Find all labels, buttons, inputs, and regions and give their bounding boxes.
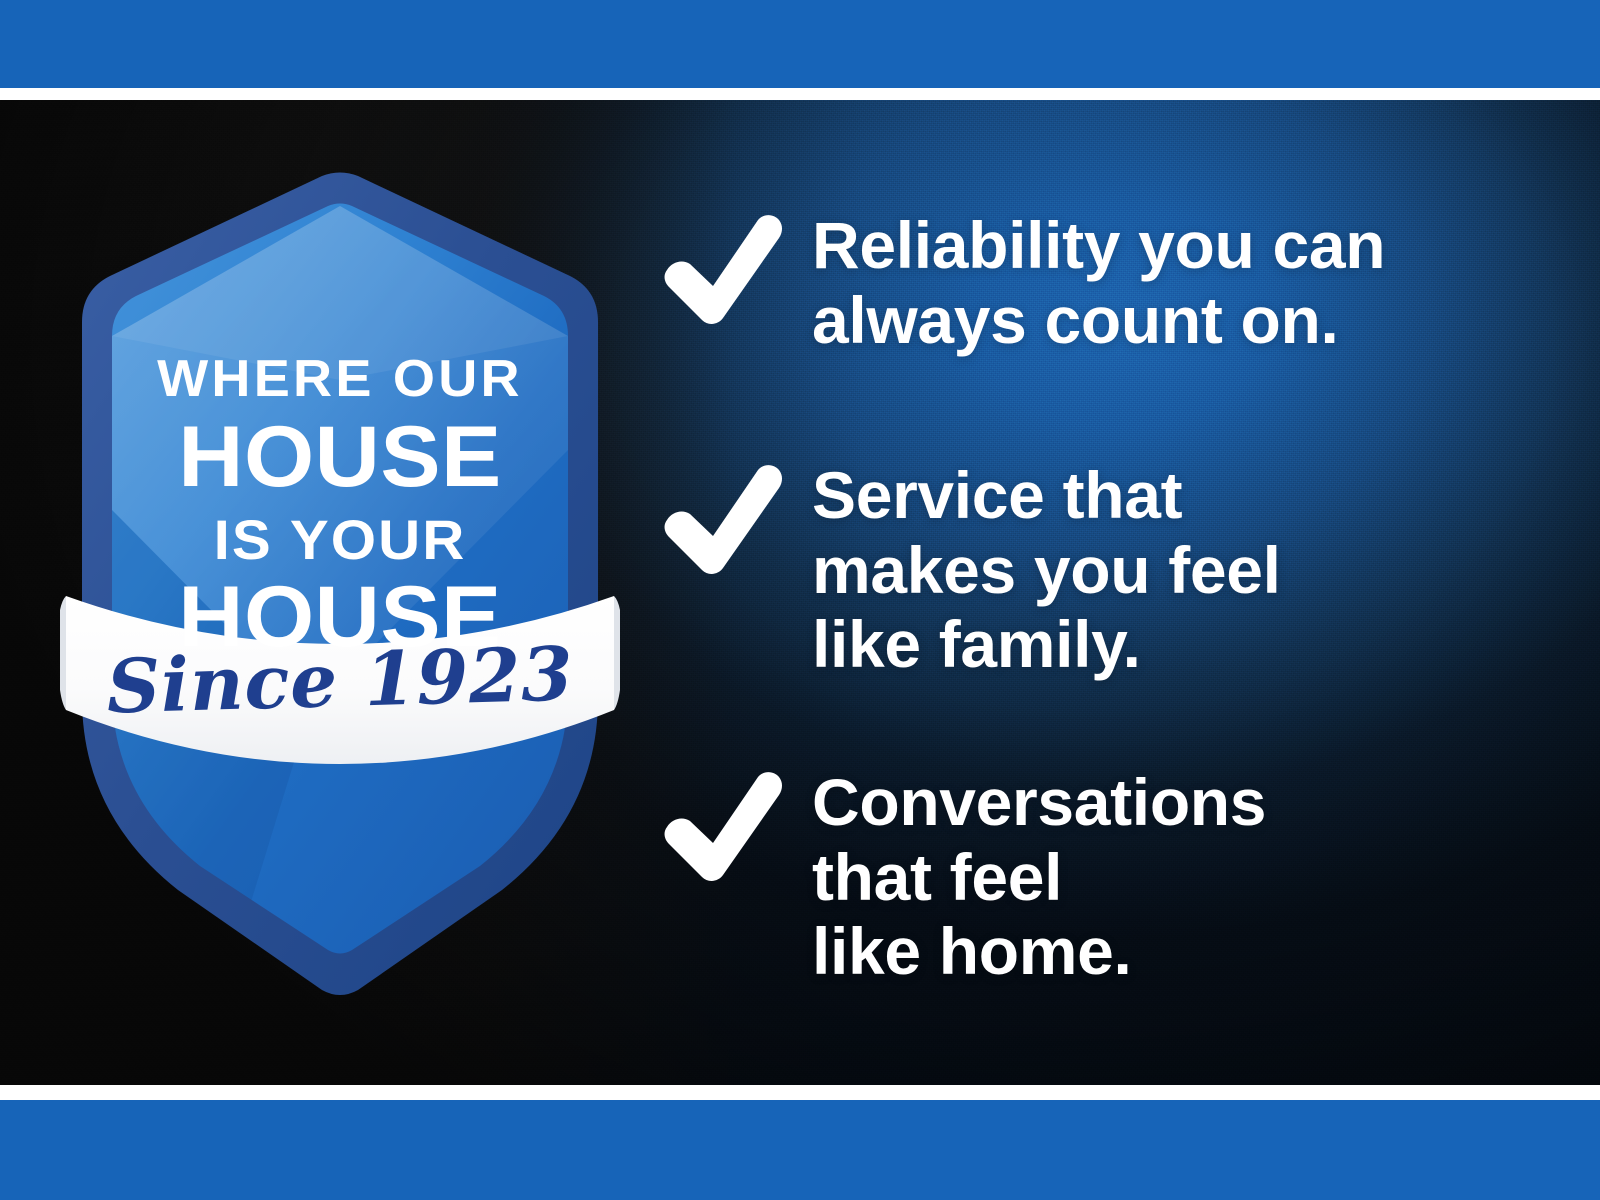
benefits-list: Reliability you can always count on. Ser…: [660, 100, 1560, 1085]
benefit-item-3: Conversations that feel like home.: [660, 765, 1266, 989]
benefit-text-2-line-3: like family.: [812, 607, 1281, 682]
benefit-text-3-line-2: that feel: [812, 840, 1266, 915]
benefit-item-1: Reliability you can always count on.: [660, 208, 1385, 357]
shield-badge: WHERE OUR HOUSE IS YOUR HOUSE Since 1923: [60, 150, 620, 960]
benefit-text-3-line-1: Conversations: [812, 765, 1266, 840]
benefit-text-1-line-1: Reliability you can: [812, 208, 1385, 283]
checkmark-icon: [660, 464, 786, 576]
benefit-text-1: Reliability you can always count on.: [812, 208, 1385, 357]
bottom-accent-rule: [0, 1100, 1600, 1200]
benefit-text-2-line-1: Service that: [812, 458, 1281, 533]
benefit-text-2-line-2: makes you feel: [812, 533, 1281, 608]
checkmark-icon: [660, 771, 786, 883]
ribbon-script-text: Since 1923: [59, 636, 621, 726]
top-accent-rule: [0, 0, 1600, 88]
benefit-item-2: Service that makes you feel like family.: [660, 458, 1281, 682]
benefit-text-2: Service that makes you feel like family.: [812, 458, 1281, 682]
benefit-text-3-line-3: like home.: [812, 914, 1266, 989]
checkmark-icon: [660, 214, 786, 326]
benefit-text-1-line-2: always count on.: [812, 283, 1385, 358]
benefit-text-3: Conversations that feel like home.: [812, 765, 1266, 989]
promo-banner: WHERE OUR HOUSE IS YOUR HOUSE Since 1923…: [0, 0, 1600, 1200]
